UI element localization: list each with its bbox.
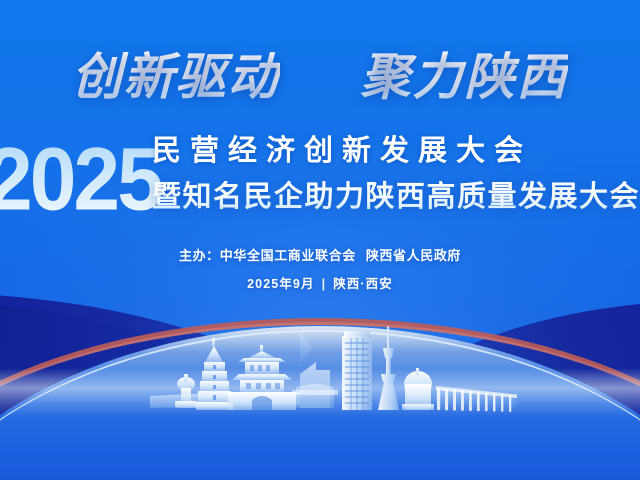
- event-location: 陕西·西安: [333, 277, 393, 291]
- year-number: 2025: [0, 128, 161, 230]
- date-location-line: 2025年9月|陕西·西安: [0, 276, 640, 293]
- organizer-label: 主办：: [179, 248, 220, 263]
- slogan-part-1: 创新驱动: [72, 47, 280, 106]
- title-line-1: 民营经济创新发展大会: [152, 132, 532, 170]
- slogan-calligraphy: 创新驱动 聚力陕西: [0, 48, 640, 106]
- poster-content: 创新驱动 聚力陕西 2025 民营经济创新发展大会 暨知名民企助力陕西高质量发展…: [0, 0, 640, 480]
- conference-poster: 创新驱动 聚力陕西 2025 民营经济创新发展大会 暨知名民企助力陕西高质量发展…: [0, 0, 640, 480]
- headline-block: 2025 民营经济创新发展大会 暨知名民企助力陕西高质量发展大会: [0, 128, 640, 233]
- organizer-line: 主办：中华全国工商业联合会陕西省人民政府: [0, 247, 640, 265]
- title-line-2: 暨知名民企助力陕西高质量发展大会: [152, 178, 640, 216]
- slogan-part-2: 聚力陕西: [360, 47, 568, 106]
- date-separator: |: [315, 276, 334, 293]
- organizer-name-1: 中华全国工商业联合会: [220, 248, 356, 263]
- organizer-name-2: 陕西省人民政府: [366, 248, 461, 263]
- event-date: 2025年9月: [247, 277, 314, 291]
